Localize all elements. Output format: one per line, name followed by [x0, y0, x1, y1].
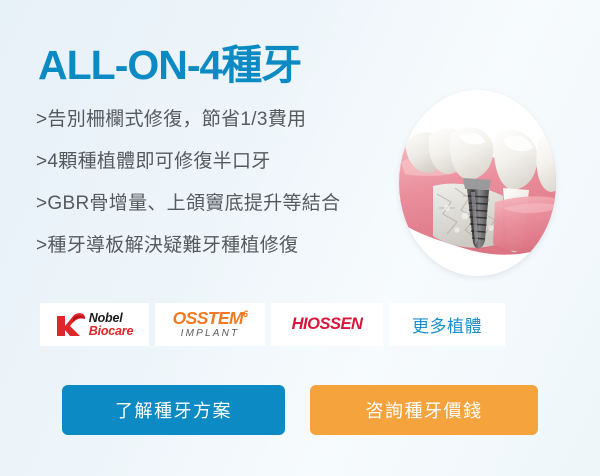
tooth-implant-illustration [399, 90, 556, 276]
more-implants-label: 更多植體 [412, 312, 482, 337]
logo-more-implants[interactable]: 更多植體 [389, 303, 505, 346]
list-item: >告別柵欄式修復，節省1/3費用 [36, 110, 340, 129]
dental-implant-photo [399, 90, 556, 276]
osstem-subtitle: IMPLANT [173, 329, 248, 339]
page-title: ALL-ON-4種牙 [38, 45, 301, 86]
list-item: >GBR骨增量、上頜竇底提升等結合 [36, 194, 340, 213]
cta-button-row: 了解種牙方案 咨詢種牙價錢 [62, 385, 538, 435]
nobel-biocare-mark-icon [56, 312, 86, 338]
osstem-degree-mark: 6 [243, 309, 247, 319]
consult-price-button[interactable]: 咨詢種牙價錢 [310, 385, 538, 435]
list-item: >種牙導板解決疑難牙種植修復 [36, 236, 340, 255]
dental-implant-banner: ALL-ON-4種牙 >告別柵欄式修復，節省1/3費用 >4顆種植體即可修復半口… [0, 0, 600, 476]
feature-list: >告別柵欄式修復，節省1/3費用 >4顆種植體即可修復半口牙 >GBR骨增量、上… [36, 110, 340, 278]
learn-plan-button[interactable]: 了解種牙方案 [62, 385, 285, 435]
logo-nobel-biocare[interactable]: Nobel Biocare [40, 303, 149, 346]
logo-hiossen[interactable]: HIOSSEN [271, 303, 383, 346]
logo-osstem[interactable]: OSSTEM6 IMPLANT [155, 303, 265, 346]
brand-logo-strip: Nobel Biocare OSSTEM6 IMPLANT HIOSSEN 更多… [40, 303, 505, 346]
list-item: >4顆種植體即可修復半口牙 [36, 152, 340, 171]
hiossen-wordmark: HIOSSEN [292, 315, 363, 334]
nobel-line2: Biocare [89, 325, 133, 338]
osstem-wordmark: OSSTEM [173, 308, 243, 328]
nobel-line1: Nobel [89, 312, 133, 325]
